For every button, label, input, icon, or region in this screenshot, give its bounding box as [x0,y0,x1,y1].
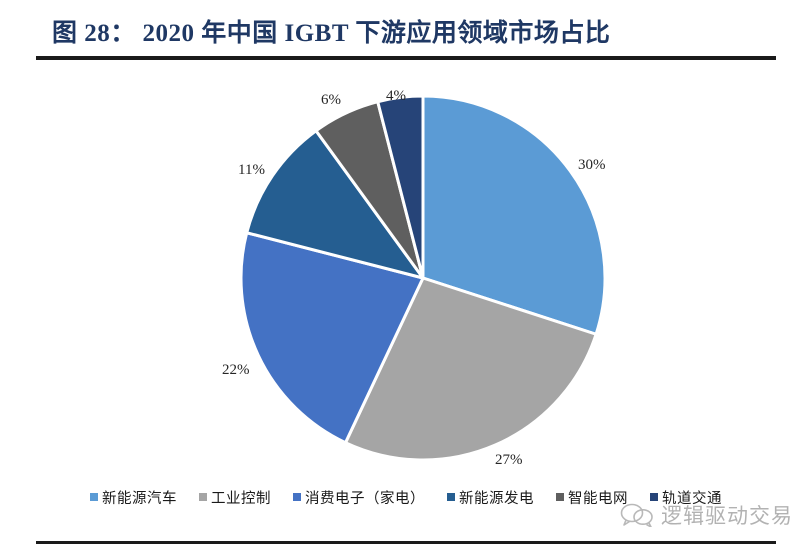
legend-item[interactable]: 消费电子（家电） [293,487,425,508]
legend-item-label: 消费电子（家电） [305,487,425,508]
legend-item[interactable]: 新能源发电 [447,487,534,508]
legend-item[interactable]: 轨道交通 [650,487,722,508]
legend-swatch-icon [556,493,564,501]
legend-item[interactable]: 工业控制 [199,487,271,508]
figure-header: 图 28： 2020 年中国 IGBT 下游应用领域市场占比 [0,0,812,62]
pie-chart-svg [0,62,812,482]
legend-swatch-icon [447,493,455,501]
pie-slice-label: 4% [386,88,406,105]
pie-slice-label: 22% [222,362,250,379]
pie-slice-group [241,96,605,460]
legend-item-label: 新能源汽车 [102,487,177,508]
pie-slice-label: 30% [578,157,606,174]
title-divider [36,56,776,60]
chart-legend: 新能源汽车工业控制消费电子（家电）新能源发电智能电网轨道交通 [0,486,812,508]
legend-swatch-icon [90,493,98,501]
page-title: 图 28： 2020 年中国 IGBT 下游应用领域市场占比 [52,13,610,49]
legend-swatch-icon [199,493,207,501]
legend-swatch-icon [293,493,301,501]
legend-swatch-icon [650,493,658,501]
legend-item-label: 轨道交通 [662,487,722,508]
legend-item-label: 新能源发电 [459,487,534,508]
legend-item-label: 智能电网 [568,487,628,508]
legend-item[interactable]: 新能源汽车 [90,487,177,508]
figure-page: 图 28： 2020 年中国 IGBT 下游应用领域市场占比 30%27%22%… [0,0,812,548]
legend-item-label: 工业控制 [211,487,271,508]
pie-chart: 30%27%22%11%6%4% [0,62,812,482]
legend-item[interactable]: 智能电网 [556,487,628,508]
pie-slice-label: 27% [495,452,523,469]
pie-slice-label: 11% [238,162,265,179]
pie-slice-label: 6% [321,92,341,109]
bottom-divider [36,541,776,544]
